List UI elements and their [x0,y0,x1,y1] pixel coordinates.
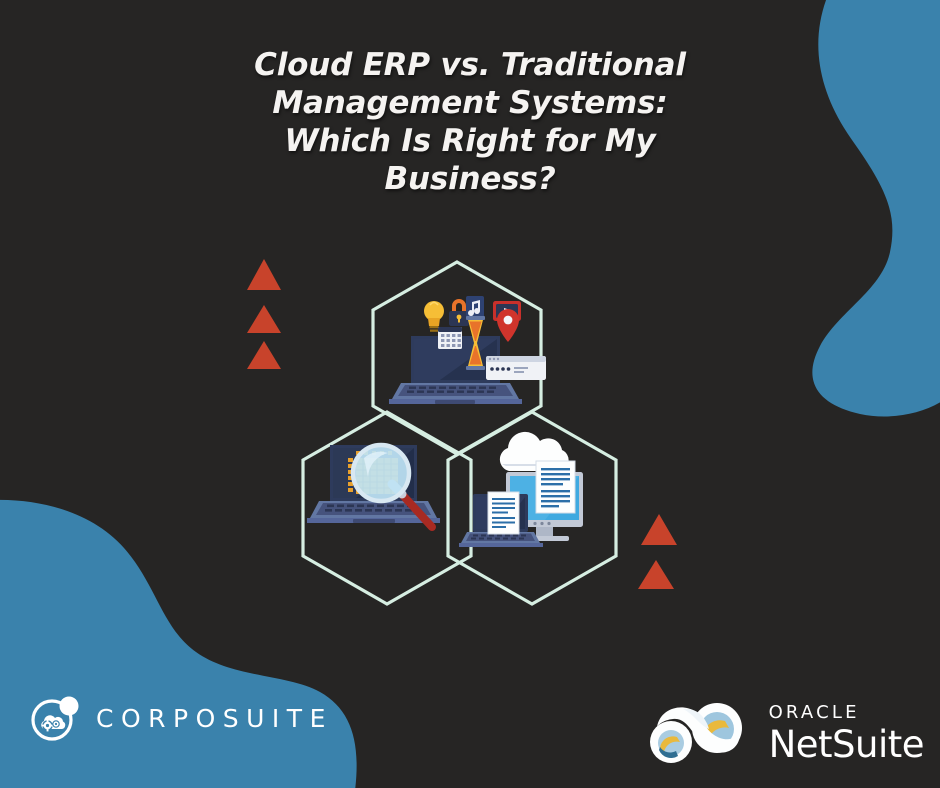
cloud-gear-circle-icon [30,694,82,742]
title-line-2: Management Systems: [0,84,940,122]
location-pin-icon [497,309,519,342]
hexagon-bottom-right-cloud [448,412,616,604]
bl-laptop-trackpad [353,519,395,523]
oracle-netsuite-logo[interactable]: ORACLE NetSuite [639,697,924,769]
netsuite-text: NetSuite [769,726,924,763]
document-large-icon [536,461,575,513]
corposuite-logo[interactable]: CORPOSUITE [30,694,333,742]
hexagon-bottom-left-analysis [303,412,471,604]
title-line-4: Business? [0,160,940,198]
title-line-1: Cloud ERP vs. Traditional [0,46,940,84]
title-line-3: Which Is Right for My [0,122,940,160]
netsuite-wordmark: ORACLE NetSuite [769,704,924,763]
music-note-icon [466,296,484,318]
corposuite-wordmark: CORPOSUITE [96,704,333,733]
infinity-mobius-icon [639,697,759,769]
document-small-icon [488,492,519,534]
laptop-trackpad [435,400,475,404]
calendar-icon [438,327,462,349]
login-window-icon [486,356,546,380]
oracle-text: ORACLE [769,704,924,722]
page-title: Cloud ERP vs. Traditional Management Sys… [0,46,940,198]
poster-canvas: Cloud ERP vs. Traditional Management Sys… [0,0,940,788]
hexagon-top-productivity [373,262,546,454]
